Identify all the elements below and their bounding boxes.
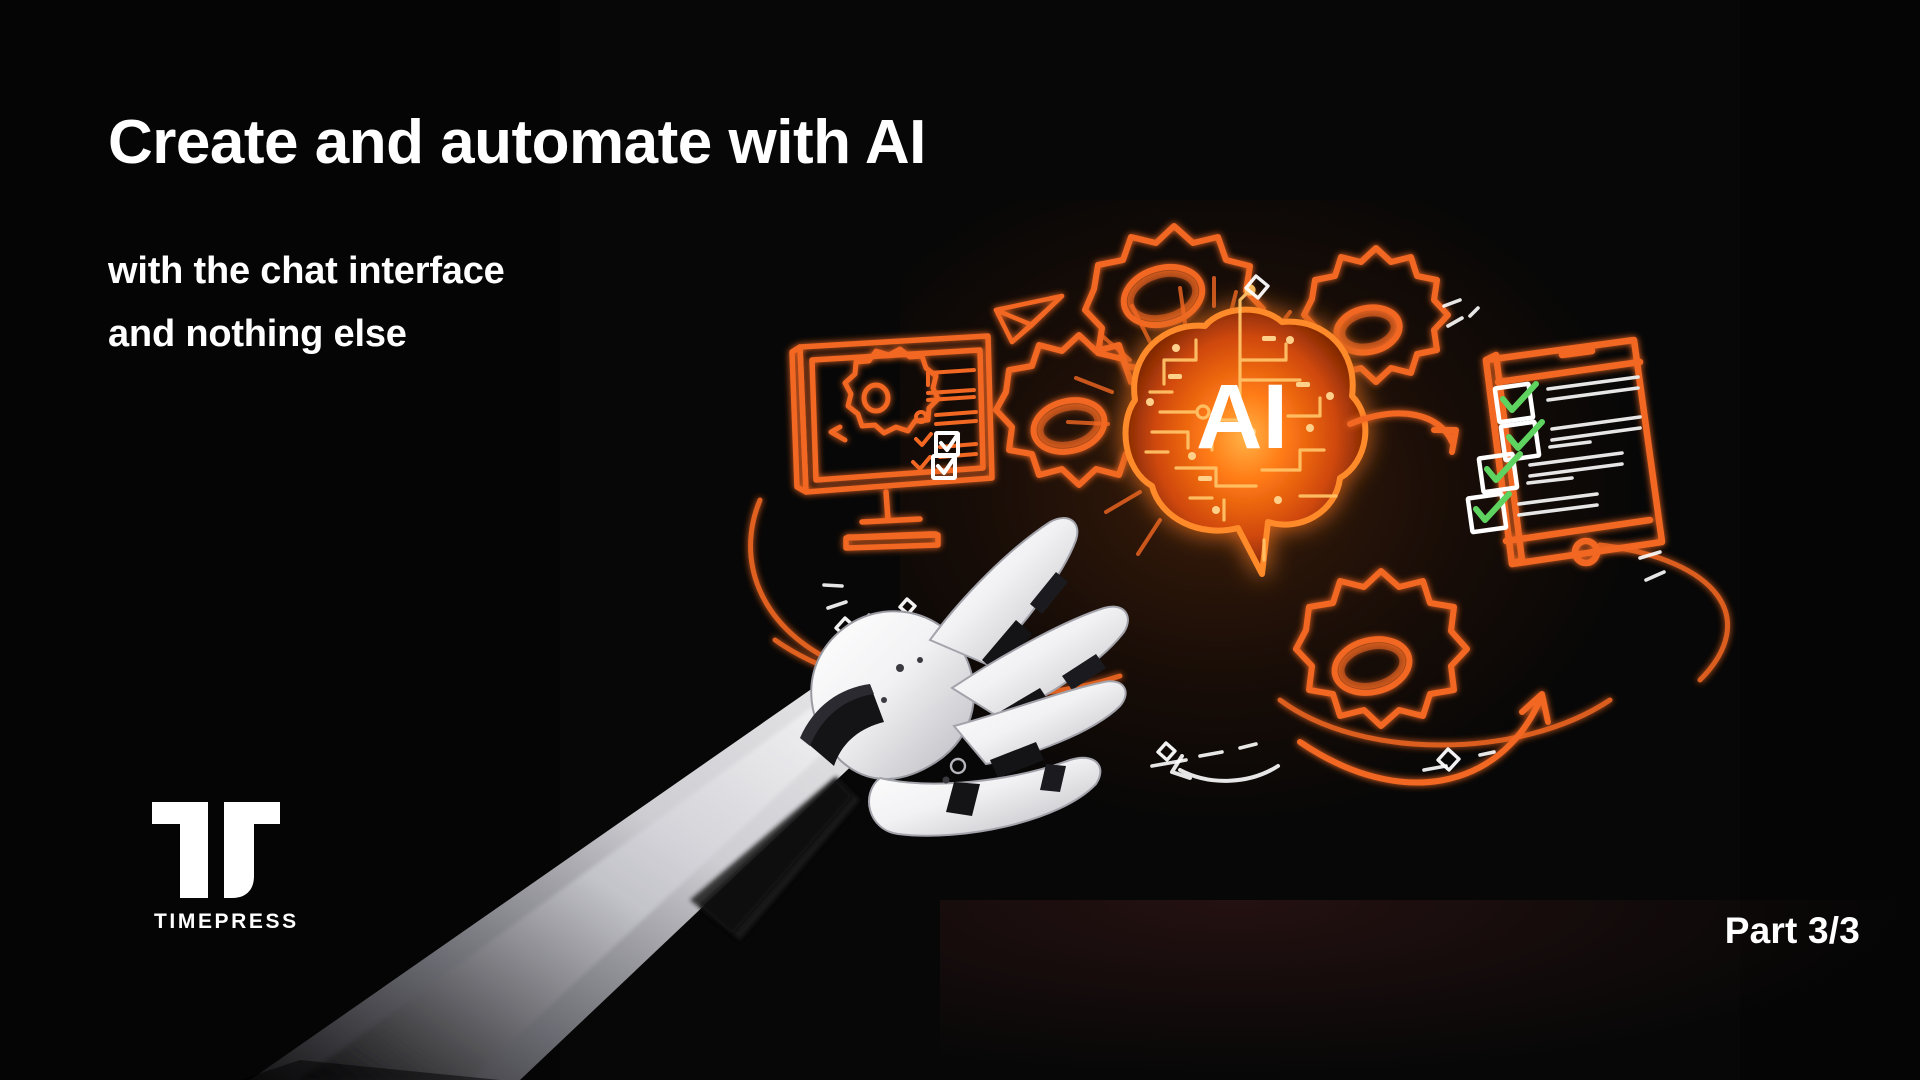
slide-canvas: AI <box>0 0 1920 1080</box>
part-indicator: Part 3/3 <box>1725 910 1860 952</box>
brand-logo: TIMEPRESS <box>150 800 330 934</box>
page-subtitle: with the chat interface and nothing else <box>108 240 505 365</box>
brand-wordmark: TIMEPRESS <box>154 910 330 934</box>
subtitle-line-1: with the chat interface <box>108 240 505 303</box>
subtitle-line-2: and nothing else <box>108 303 505 366</box>
timepress-monogram-icon <box>150 800 282 900</box>
page-title: Create and automate with AI <box>108 110 926 175</box>
